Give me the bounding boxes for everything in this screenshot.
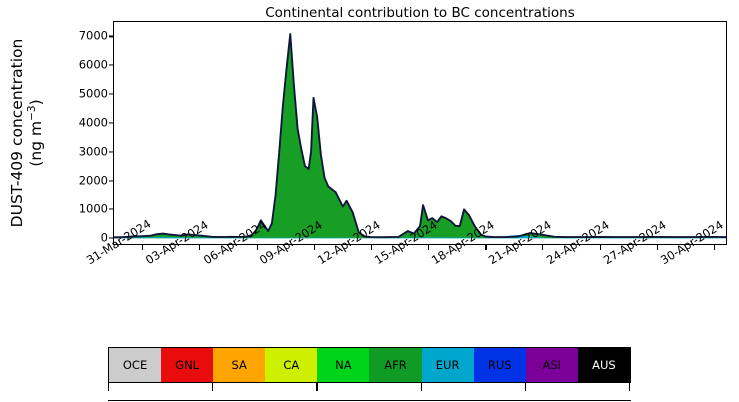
legend-axis-tick-mark <box>316 383 317 391</box>
y-axis-tick-label: 2000 <box>79 175 108 187</box>
legend-cell-label: OCE <box>123 358 147 372</box>
y-axis-tick-label: 5000 <box>79 88 108 100</box>
legend-axis-tick-mark <box>108 383 109 391</box>
legend-cell-label: RUS <box>488 358 512 372</box>
y-axis-tick-label: 6000 <box>79 59 108 71</box>
y-axis-unit-exponent: −3 <box>26 105 38 120</box>
legend-cell-label: EUR <box>436 358 460 372</box>
x-axis-tick-mark <box>714 245 715 250</box>
x-axis-tick-mark <box>199 245 200 250</box>
y-axis-tick-labels: 01000200030004000500060007000 <box>55 21 108 245</box>
x-axis-tick-labels: 31-Mar-202403-Apr-202406-Apr-202409-Apr-… <box>0 250 739 320</box>
legend-cell-label: NA <box>335 358 351 372</box>
y-axis-label-line1: DUST-409 concentration <box>8 39 27 228</box>
continent-legend-table: OCEGNLSACANAAFREURRUSASIAUS <box>108 347 631 383</box>
y-axis-tick-label: 4000 <box>79 117 108 129</box>
plot-area <box>113 21 727 245</box>
area-chart-svg <box>114 22 726 244</box>
legend-cell-oce[interactable]: OCE <box>109 348 161 382</box>
y-axis-tick-label: 3000 <box>79 146 108 158</box>
legend-axis-line <box>108 400 631 401</box>
legend-cell-label: SA <box>232 358 247 372</box>
legend-cell-eur[interactable]: EUR <box>422 348 474 382</box>
legend-cell-na[interactable]: NA <box>317 348 369 382</box>
legend-cell-gnl[interactable]: GNL <box>161 348 213 382</box>
x-axis-tick-mark <box>485 245 486 250</box>
y-axis-tick-label: 7000 <box>79 31 108 43</box>
total-concentration-line <box>114 34 726 237</box>
chart-title: Continental contribution to BC concentra… <box>113 5 727 21</box>
legend-cell-ca[interactable]: CA <box>265 348 317 382</box>
legend-cell-label: AUS <box>592 358 616 372</box>
x-axis-tick-mark <box>257 245 258 250</box>
legend-cell-label: ASI <box>543 358 562 372</box>
legend-axis-tick-mark <box>421 383 422 391</box>
legend-axis-tick-mark <box>212 383 213 391</box>
legend-cell-label: GNL <box>175 358 199 372</box>
legend-axis-tick-mark <box>525 383 526 391</box>
area-series-na <box>114 34 726 238</box>
y-axis-tick-label: 1000 <box>79 204 108 216</box>
x-axis-tick-mark <box>142 245 143 250</box>
legend-cell-sa[interactable]: SA <box>213 348 265 382</box>
x-axis-tick-mark <box>657 245 658 250</box>
y-axis-label-line2: (ng m−3) <box>26 39 46 228</box>
legend-axis-tick-mark <box>629 383 630 391</box>
x-axis-tick-mark <box>542 245 543 250</box>
y-axis-unit-suffix: ) <box>28 99 46 105</box>
legend-cell-label: CA <box>283 358 299 372</box>
x-axis-tick-mark <box>600 245 601 250</box>
legend-cell-label: AFR <box>384 358 406 372</box>
y-axis-unit-prefix: (ng m <box>28 121 46 167</box>
x-axis-tick-mark <box>428 245 429 250</box>
legend-cell-asi[interactable]: ASI <box>526 348 578 382</box>
x-axis-tick-mark <box>314 245 315 250</box>
legend-cell-rus[interactable]: RUS <box>474 348 526 382</box>
legend-cell-aus[interactable]: AUS <box>578 348 630 382</box>
x-axis-tick-mark <box>371 245 372 250</box>
legend-cell-afr[interactable]: AFR <box>369 348 421 382</box>
